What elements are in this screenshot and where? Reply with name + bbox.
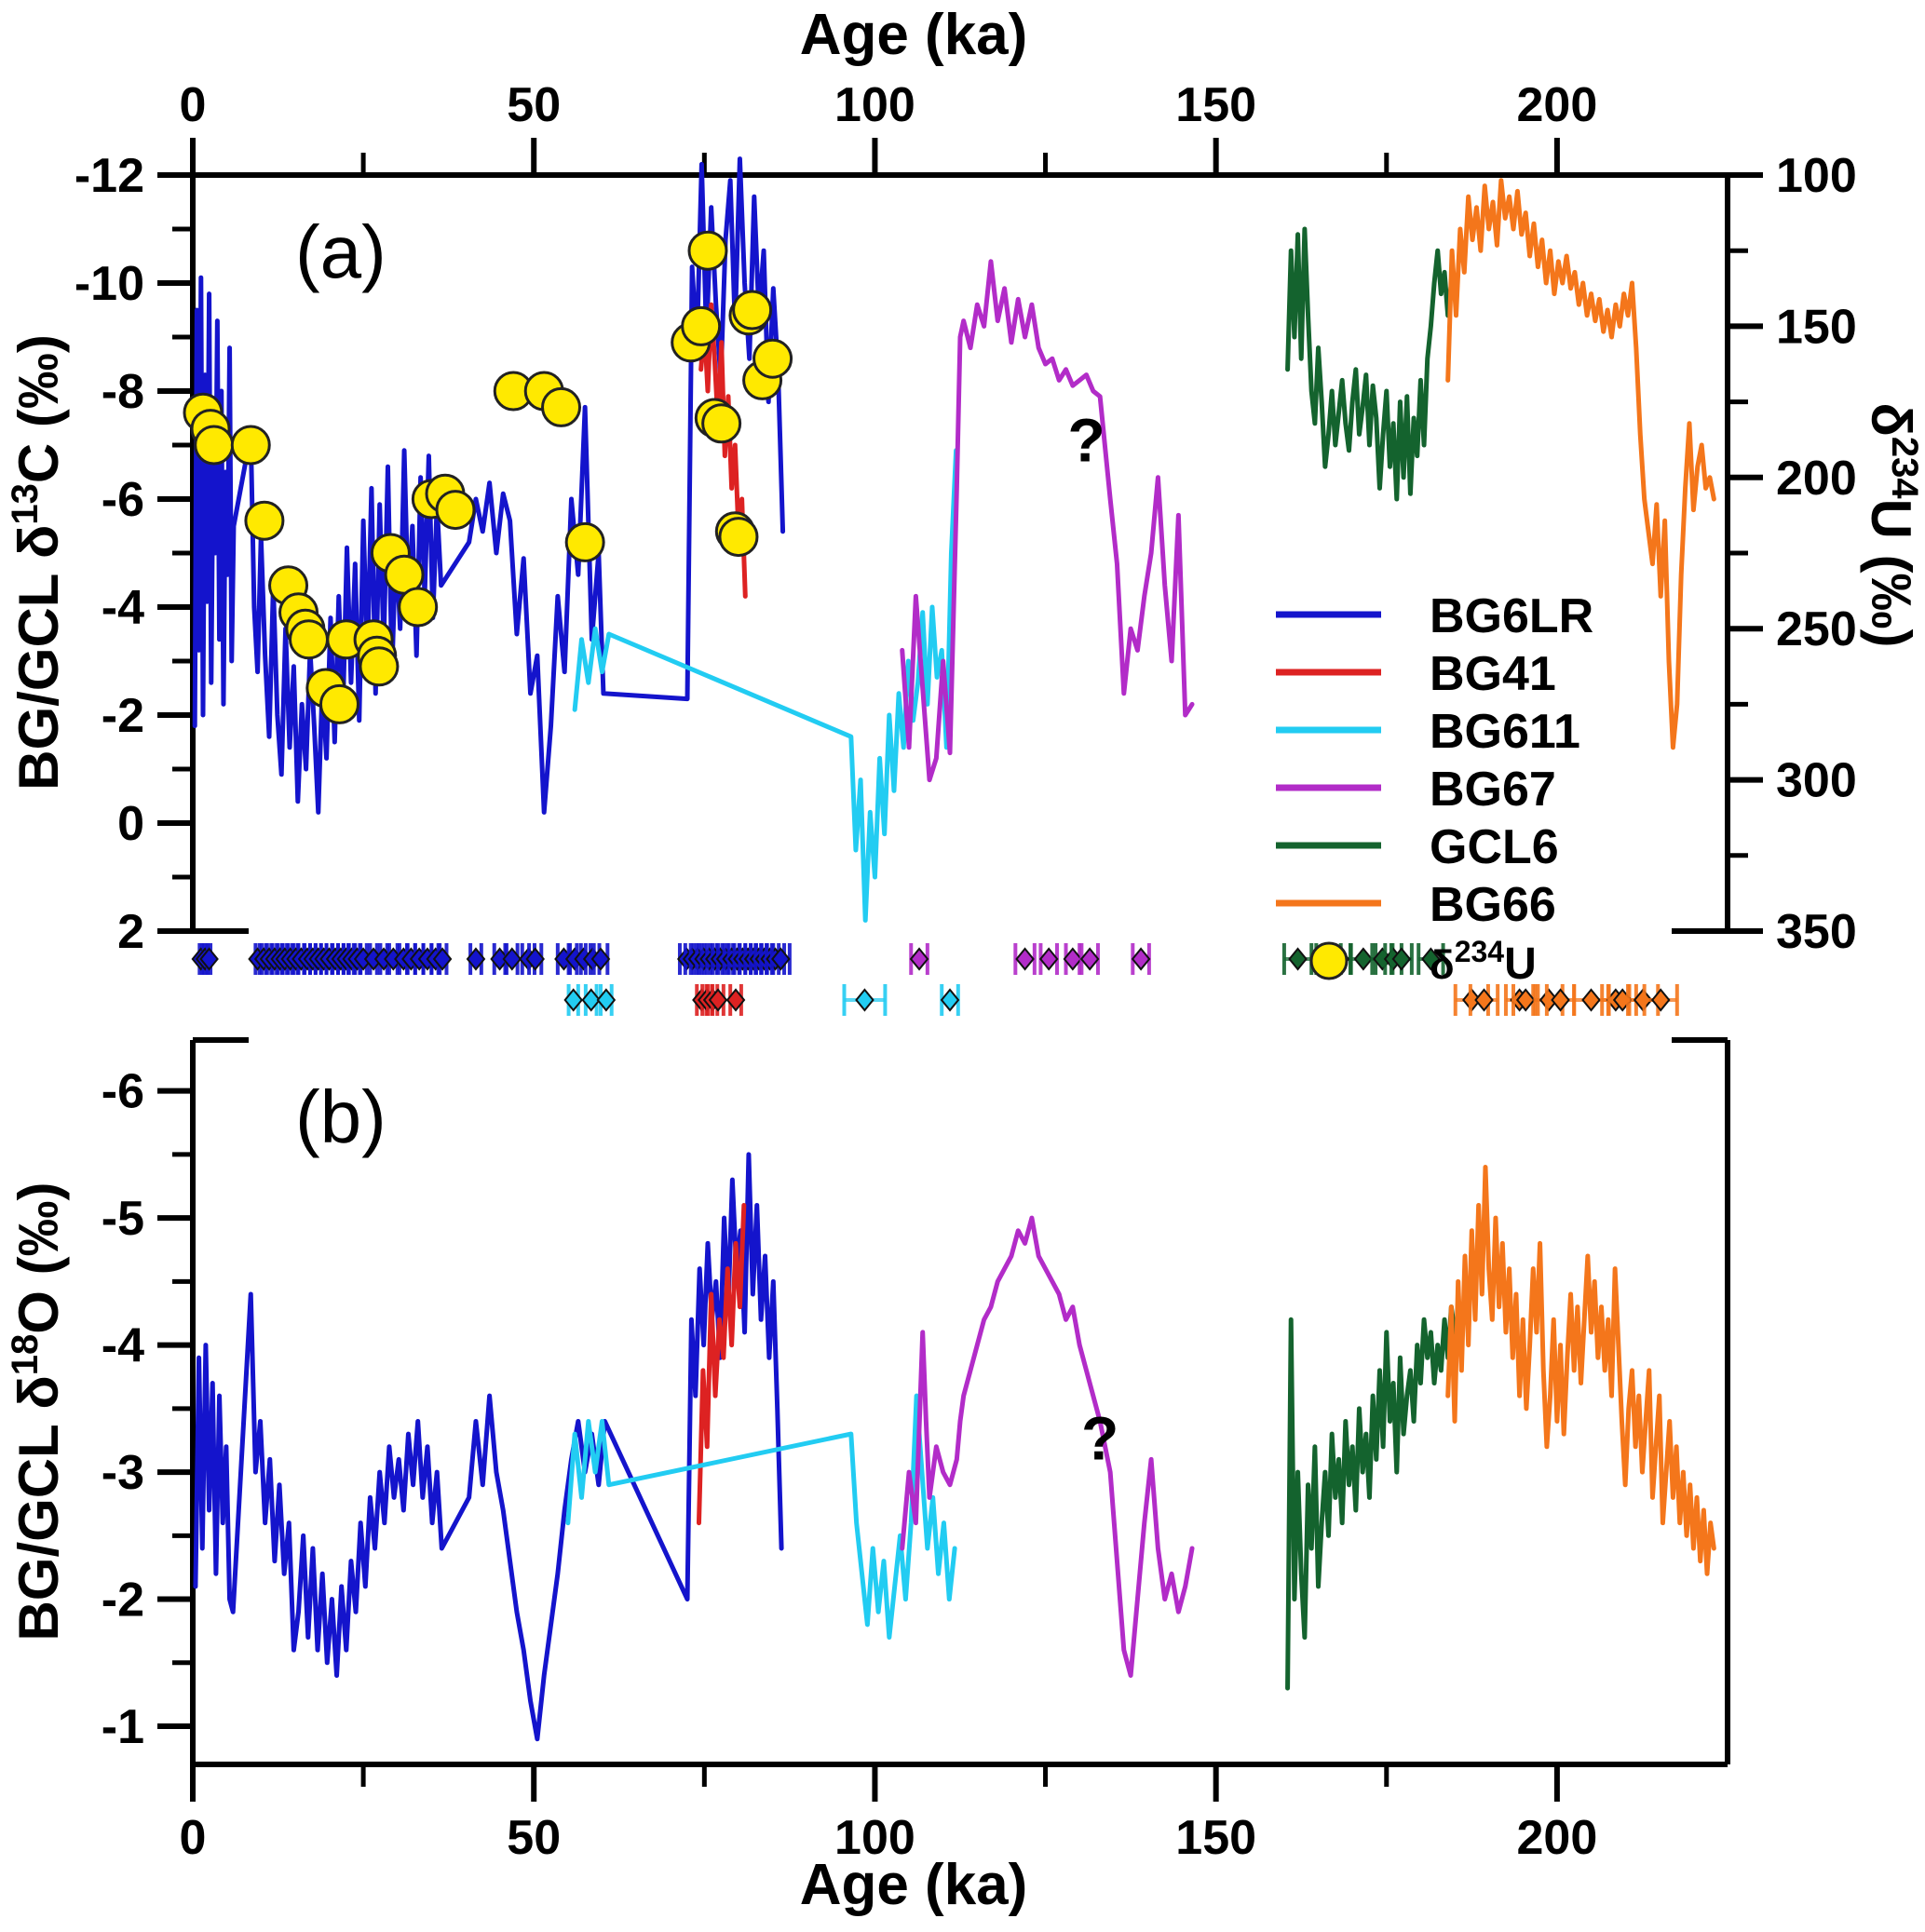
- panel-b-label: (b): [295, 1075, 386, 1158]
- d234u-datapoint: [400, 588, 437, 626]
- legend-label: BG41: [1430, 647, 1556, 701]
- y-tick-label-right: 200: [1776, 452, 1857, 506]
- legend-circle-swatch: [1311, 943, 1347, 979]
- y-tick-label-a: 2: [117, 905, 144, 959]
- top-axis-title: Age (ka): [800, 3, 1028, 67]
- d234u-datapoint: [196, 426, 233, 464]
- x-tick-label-bottom: 200: [1517, 1811, 1598, 1865]
- legend-label: GCL6: [1430, 820, 1559, 874]
- y-tick-label-b: -4: [102, 1319, 144, 1373]
- d234u-datapoint: [720, 519, 757, 556]
- d234u-datapoint: [437, 492, 474, 529]
- speleothem-isotope-figure: ?(a) ?(b) BG6LRBG41BG611BG67GCL6BG66δ234…: [0, 0, 1925, 1932]
- legend-label: BG6LR: [1430, 589, 1593, 643]
- d234u-datapoint: [246, 502, 283, 539]
- y-tick-label-a: -2: [102, 689, 144, 743]
- d234u-datapoint: [734, 291, 771, 329]
- x-tick-label-bottom: 0: [180, 1811, 207, 1865]
- y-tick-label-right: 350: [1776, 905, 1857, 959]
- panel-b-left-axis-title: BG/GCL δ18O (‰): [5, 1182, 70, 1641]
- d234u-datapoint: [754, 340, 792, 377]
- x-tick-label-bottom: 50: [507, 1811, 561, 1865]
- legend-label: BG67: [1430, 763, 1556, 817]
- panel-a-left-axis-title: BG/GCL δ13C (‰): [5, 334, 70, 790]
- bottom-axis-title: Age (ka): [800, 1853, 1028, 1917]
- y-tick-label-right: 250: [1776, 602, 1857, 656]
- y-tick-label-b: -3: [102, 1446, 144, 1500]
- x-tick-label-top: 0: [180, 78, 207, 132]
- x-tick-label-bottom: 150: [1175, 1811, 1256, 1865]
- legend-label: BG66: [1430, 878, 1556, 932]
- d234u-datapoint: [683, 307, 720, 345]
- d234u-datapoint: [703, 405, 740, 442]
- d234u-datapoint: [689, 232, 726, 269]
- y-tick-label-a: -8: [102, 365, 144, 419]
- panel-a-label: (a): [295, 210, 386, 293]
- d234u-datapoint: [320, 685, 358, 723]
- y-tick-label-b: -5: [102, 1192, 144, 1246]
- y-tick-label-right: 150: [1776, 300, 1857, 354]
- d234u-datapoint: [360, 648, 398, 685]
- d234u-datapoint: [566, 523, 603, 561]
- x-tick-label-top: 200: [1517, 78, 1598, 132]
- legend-label: BG611: [1430, 705, 1580, 759]
- d234u-datapoint: [291, 621, 328, 658]
- y-tick-label-a: -12: [75, 149, 144, 203]
- uncertainty-question-mark-a: ?: [1067, 405, 1105, 474]
- x-tick-label-top: 100: [834, 78, 915, 132]
- figure-root: ?(a) ?(b) BG6LRBG41BG611BG67GCL6BG66δ234…: [0, 0, 1925, 1932]
- y-tick-label-b: -1: [102, 1700, 144, 1754]
- y-tick-label-a: -6: [102, 473, 144, 527]
- y-tick-label-b: -2: [102, 1574, 144, 1628]
- y-tick-label-a: 0: [117, 797, 144, 851]
- y-tick-label-right: 300: [1776, 754, 1857, 808]
- d234u-datapoint: [232, 426, 269, 464]
- x-tick-label-top: 50: [507, 78, 561, 132]
- x-tick-label-top: 150: [1175, 78, 1256, 132]
- uncertainty-question-mark-b: ?: [1081, 1403, 1118, 1472]
- y-tick-label-right: 100: [1776, 149, 1857, 203]
- y-tick-label-a: -4: [102, 581, 144, 635]
- y-tick-label-a: -10: [75, 257, 144, 311]
- y-tick-label-b: -6: [102, 1065, 144, 1119]
- d234u-datapoint: [543, 388, 580, 426]
